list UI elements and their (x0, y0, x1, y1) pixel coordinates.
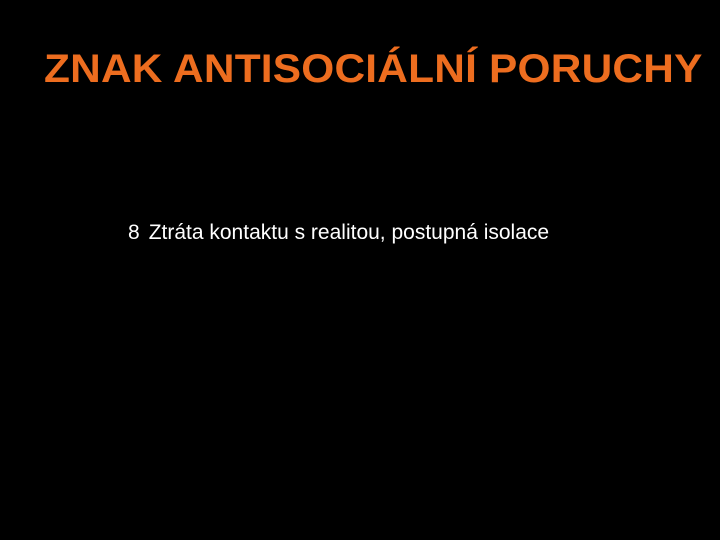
bullet-list-item: 8 Ztráta kontaktu s realitou, postupná i… (128, 220, 688, 246)
slide-body-content: 8 Ztráta kontaktu s realitou, postupná i… (128, 220, 688, 246)
presentation-slide: ZNAK ANTISOCIÁLNÍ PORUCHY 8 Ztráta konta… (0, 0, 720, 540)
slide-title: ZNAK ANTISOCIÁLNÍ PORUCHY (44, 46, 718, 93)
bullet-marker-icon: 8 (128, 220, 140, 246)
bullet-item-label: Ztráta kontaktu s realitou, postupná iso… (149, 220, 549, 246)
